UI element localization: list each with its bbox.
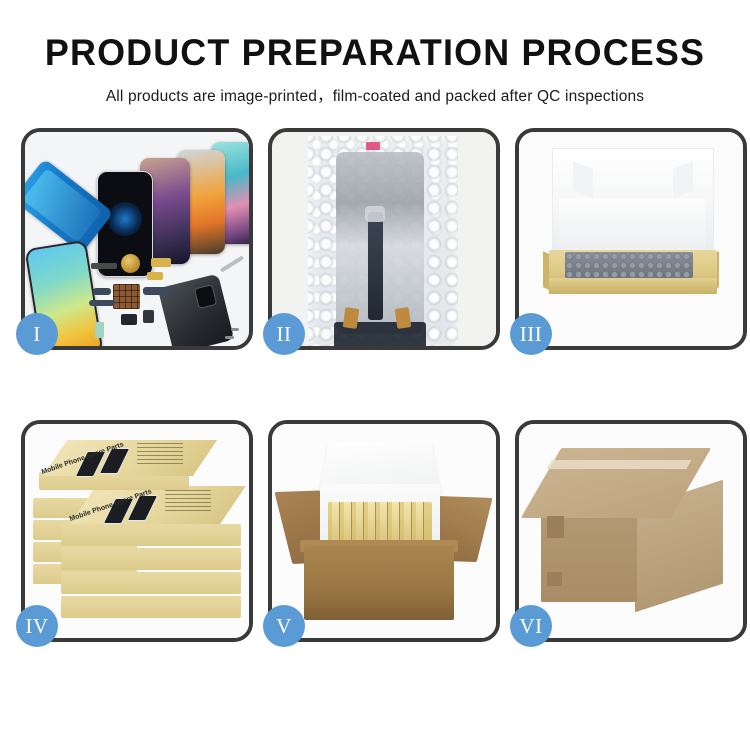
- step-image-1: [25, 132, 249, 346]
- step-panel-1: I: [21, 128, 253, 350]
- wrapped-flex-cable: [368, 212, 383, 320]
- lid-flap-left: [573, 161, 593, 199]
- part-battery: [95, 322, 104, 338]
- stack-box-front-2: [61, 524, 241, 546]
- stack-box-front-3: [61, 548, 241, 570]
- yellow-box-front-panel: [549, 278, 717, 294]
- carton-flap-tab-upper: [547, 516, 564, 538]
- page-header: PRODUCT PREPARATION PROCESS All products…: [0, 0, 750, 106]
- wrapped-connector: [365, 206, 385, 222]
- step-badge-2: II: [263, 313, 305, 355]
- step-panel-2: II: [268, 128, 500, 350]
- part-screw-1: [231, 328, 239, 331]
- part-chip-1: [121, 314, 137, 325]
- sealing-tape: [546, 460, 691, 469]
- chip-grid-part: [113, 284, 140, 309]
- page-subtitle: All products are image-printed，film-coat…: [0, 84, 750, 106]
- wrapped-gold-contact-left: [343, 307, 360, 329]
- part-tool-tweezers: [220, 255, 244, 272]
- step-badge-3: III: [510, 313, 552, 355]
- step-badge-1: I: [16, 313, 58, 355]
- pink-seal-tape: [366, 142, 380, 150]
- step-image-4: Mobile Phone Spare Parts Mobile Phone Sp…: [25, 424, 249, 638]
- flex-cable-1: [93, 288, 111, 295]
- stack-box-front-5: [61, 596, 241, 618]
- part-chip-2: [143, 310, 154, 323]
- bubble-wrapped-contents: [565, 252, 693, 278]
- step-panel-5: V: [268, 420, 500, 642]
- stack-box-top-left-lid: [43, 440, 217, 476]
- phone-back-cover-part: [158, 273, 235, 345]
- flex-cable-2: [89, 300, 115, 306]
- step-badge-4: IV: [16, 605, 58, 647]
- box-lid-text-block-right: [165, 490, 211, 514]
- stacked-box-group: Mobile Phone Spare Parts Mobile Phone Sp…: [31, 438, 249, 638]
- part-screw-2: [225, 336, 234, 339]
- box-lid-text-block-left: [137, 443, 183, 467]
- stack-box-top-right-lid: [70, 486, 246, 524]
- flex-cable-gold-2: [147, 272, 163, 280]
- carton-body: [304, 546, 454, 620]
- step-image-5: [272, 424, 496, 638]
- stack-box-front-4: [61, 572, 241, 594]
- lid-flap-right: [673, 161, 693, 199]
- wrapped-gold-contact-right: [395, 307, 412, 329]
- step-panel-6: VI: [515, 420, 747, 642]
- flex-cable-3: [143, 287, 171, 295]
- bubble-wrap-bag: [308, 136, 458, 346]
- part-bar-1: [91, 263, 117, 269]
- step-image-3: [519, 132, 743, 346]
- white-foam-liner: [559, 198, 705, 256]
- page-title: PRODUCT PREPARATION PROCESS: [11, 34, 739, 73]
- speaker-part: [121, 254, 140, 273]
- step-badge-5: V: [263, 605, 305, 647]
- process-steps-grid: I II: [12, 128, 738, 642]
- step-panel-4: Mobile Phone Spare Parts Mobile Phone Sp…: [21, 420, 253, 642]
- step-badge-6: VI: [510, 605, 552, 647]
- carton-flap-tab-lower: [547, 572, 562, 586]
- step-image-2: [272, 132, 496, 346]
- step-panel-3: III: [515, 128, 747, 350]
- flex-cable-gold-1: [151, 258, 171, 267]
- step-image-6: [519, 424, 743, 638]
